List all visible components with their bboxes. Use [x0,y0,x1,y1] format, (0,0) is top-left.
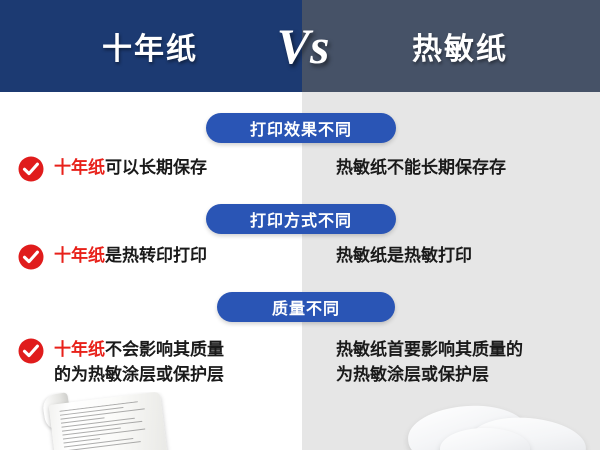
section-badge-1: 打印效果不同 [206,113,396,143]
row-1-left-rest: 可以长期保存 [105,158,207,177]
row-2-left-cell: 十年纸是热转印打印 [18,243,298,270]
check-circle-icon [18,338,44,364]
row-2-right-line-1: 热敏纸是热敏打印 [336,243,586,268]
check-circle-icon [18,244,44,270]
row-1-left-cell: 十年纸可以长期保存 [18,155,298,182]
row-3-left-rest: 不会影响其质量 [105,340,224,359]
row-2-right-cell: 热敏纸是热敏打印 [336,243,586,268]
row-2-left-text: 十年纸是热转印打印 [54,243,207,268]
product-photo-strip [0,392,600,450]
row-3-left-highlight: 十年纸 [54,340,105,359]
row-2-left-highlight: 十年纸 [54,246,105,265]
comparison-infographic: 十年纸 Vs 热敏纸 打印效果不同 十年纸可以长期保存 热敏纸不能长期保存存 打… [0,0,600,450]
row-1-left-highlight: 十年纸 [54,158,105,177]
row-3-left-text: 十年纸不会影响其质量的为热敏涂层或保护层 [54,337,224,387]
receipt-print-lines [59,400,157,450]
row-3-left-cell: 十年纸不会影响其质量的为热敏涂层或保护层 [18,337,298,387]
row-3-left-line-2: 的为热敏涂层或保护层 [54,362,224,387]
check-circle-icon [18,156,44,182]
page-title-right: 热敏纸 [350,0,570,92]
row-3-right-line-1: 热敏纸首要影响其质量的 [336,337,586,362]
row-3-right-line-2: 为热敏涂层或保护层 [336,362,586,387]
row-3-right-cell: 热敏纸首要影响其质量的 为热敏涂层或保护层 [336,337,586,387]
section-badge-2: 打印方式不同 [206,204,396,234]
row-1-left-text: 十年纸可以长期保存 [54,155,207,180]
vs-label: Vs [253,0,353,92]
page-title-left: 十年纸 [40,0,260,92]
header: 十年纸 Vs 热敏纸 [0,0,600,92]
row-1-right-cell: 热敏纸不能长期保存存 [336,155,586,180]
row-3-left-line-1: 十年纸不会影响其质量 [54,337,224,362]
row-2-left-rest: 是热转印打印 [105,246,207,265]
section-badge-3: 质量不同 [217,292,395,322]
row-1-right-line-1: 热敏纸不能长期保存存 [336,155,586,180]
